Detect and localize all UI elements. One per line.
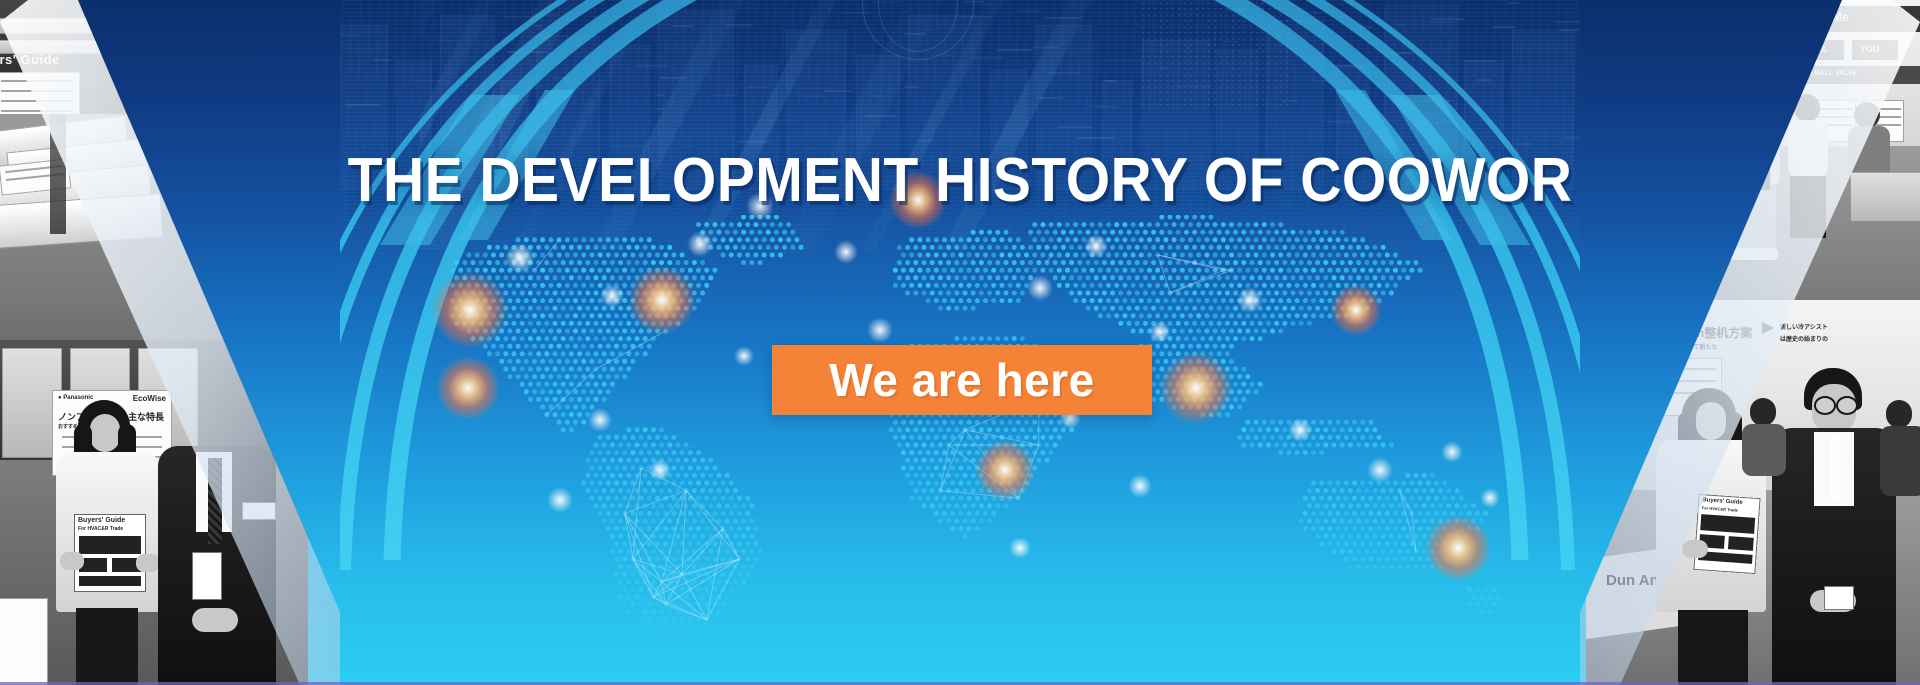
we-are-here-badge[interactable]: We are here (772, 345, 1152, 415)
badge-label: We are here (829, 357, 1094, 403)
left-photo-panel: yers' Guide (0, 0, 340, 685)
dot-world-map (430, 215, 1500, 645)
page-title: THE DEVELOPMENT HISTORY OF COOWOR (77, 150, 1843, 212)
banner-root: THE DEVELOPMENT HISTORY OF COOWOR We are… (0, 0, 1920, 685)
right-photo-panel: Coowor Me GLOBAL YOU POWER BALL VALVE (1580, 0, 1920, 685)
